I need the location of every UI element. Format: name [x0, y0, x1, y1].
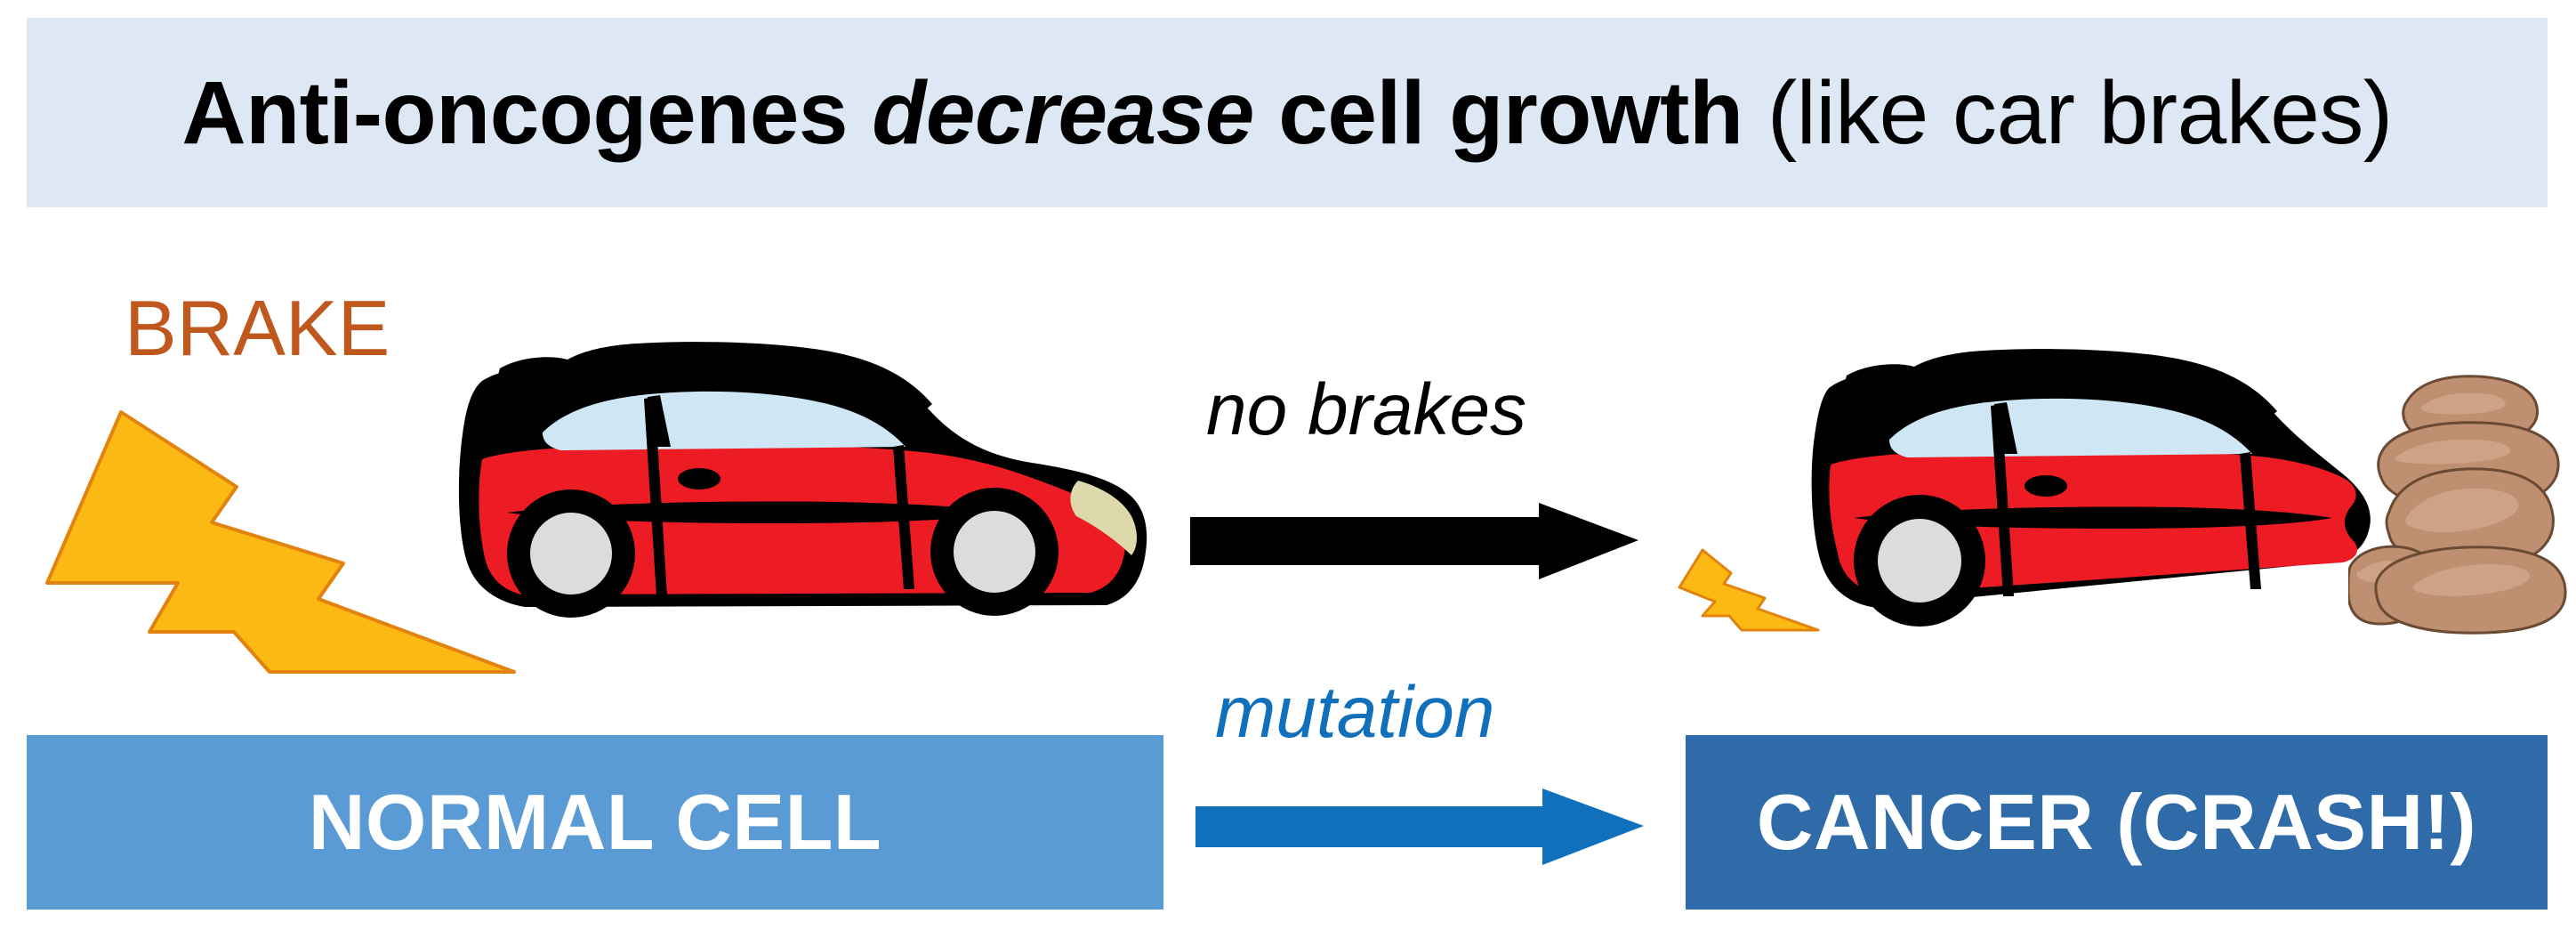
title-part-parenthetical: (like car brakes)	[1743, 63, 2393, 163]
title-banner: Anti-oncogenes decrease cell growth (lik…	[27, 18, 2548, 207]
no-brakes-label: no brakes	[1206, 374, 1526, 447]
normal-cell-bar: NORMAL CELL	[27, 735, 1163, 910]
mutation-label: mutation	[1215, 676, 1495, 749]
normal-car-icon	[418, 329, 1183, 685]
cancer-bar: CANCER (CRASH!)	[1686, 735, 2548, 910]
title-part-emphasis: decrease	[872, 63, 1254, 163]
page-title: Anti-oncogenes decrease cell growth (lik…	[181, 69, 2392, 158]
title-part-bold-2: cell growth	[1254, 63, 1743, 163]
title-part-bold-1: Anti-oncogenes	[181, 63, 872, 163]
cancer-label: CANCER (CRASH!)	[1757, 783, 2476, 861]
slide-canvas: Anti-oncogenes decrease cell growth (lik…	[0, 0, 2576, 930]
no-brakes-arrow-icon	[1183, 503, 1646, 583]
brake-label: BRAKE	[125, 289, 390, 368]
mutation-arrow-icon	[1188, 783, 1651, 872]
normal-cell-label: NORMAL CELL	[309, 783, 881, 861]
rock-pile-icon	[2348, 369, 2576, 672]
